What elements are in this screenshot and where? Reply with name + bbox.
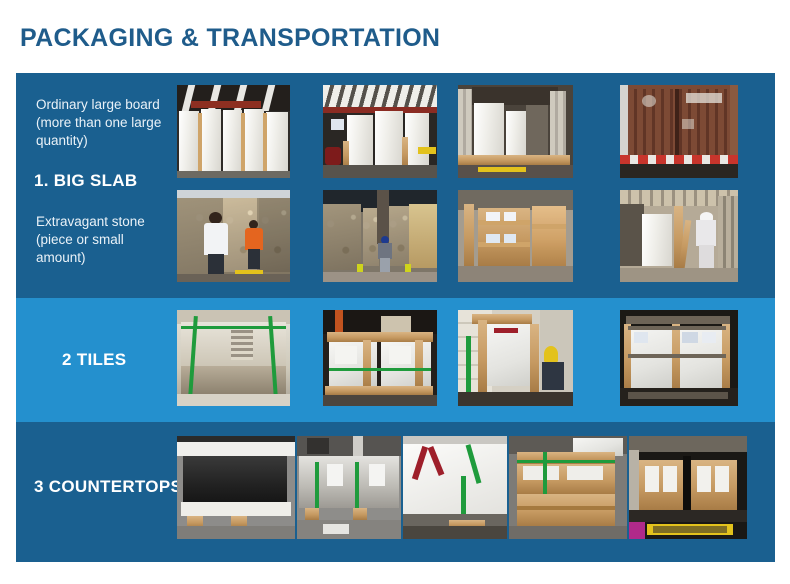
photo-countertop-crates-in-container [629, 436, 747, 539]
heading-tiles: 2 TILES [62, 350, 126, 370]
photo-workers-inspecting-granite-slab [177, 190, 290, 282]
photo-white-slabs-loading-container [323, 85, 437, 178]
section-big-slab: Ordinary large board (more than one larg… [16, 73, 775, 298]
photo-dark-countertop-on-pallet [177, 436, 295, 539]
photo-tile-crates-on-pallets [323, 310, 437, 406]
photo-slabs-inside-container-truck [458, 85, 573, 178]
heading-countertops: 3 COUNTERTOPS [34, 477, 182, 497]
caption-ordinary-large-board: Ordinary large board (more than one larg… [36, 96, 176, 150]
packaging-panel: Ordinary large board (more than one larg… [16, 73, 775, 562]
page-title: PACKAGING & TRANSPORTATION [20, 24, 440, 53]
photo-grey-countertops-green-straps [297, 436, 401, 539]
photo-white-wrapped-bundle-straps [403, 436, 507, 539]
photo-tile-bundle-green-straps [177, 310, 290, 406]
photo-container-full-of-tile-crates [620, 310, 738, 406]
heading-big-slab: 1. BIG SLAB [34, 171, 137, 191]
photo-white-slab-bundles-warehouse [177, 85, 290, 178]
section-countertops: 3 COUNTERTOPS [16, 422, 775, 562]
photo-worker-between-slab-rows [323, 190, 437, 282]
photo-wooden-crates-countertops [509, 436, 627, 539]
caption-extravagant-stone: Extravagant stone (piece or small amount… [36, 213, 176, 267]
section-tiles: 2 TILES [16, 298, 775, 422]
photo-wooden-a-frame-crates [458, 190, 573, 282]
photo-worker-loading-crate-container [620, 190, 738, 282]
photo-crate-loaded-into-container [458, 310, 573, 406]
photo-closed-brown-container-rear [620, 85, 738, 178]
